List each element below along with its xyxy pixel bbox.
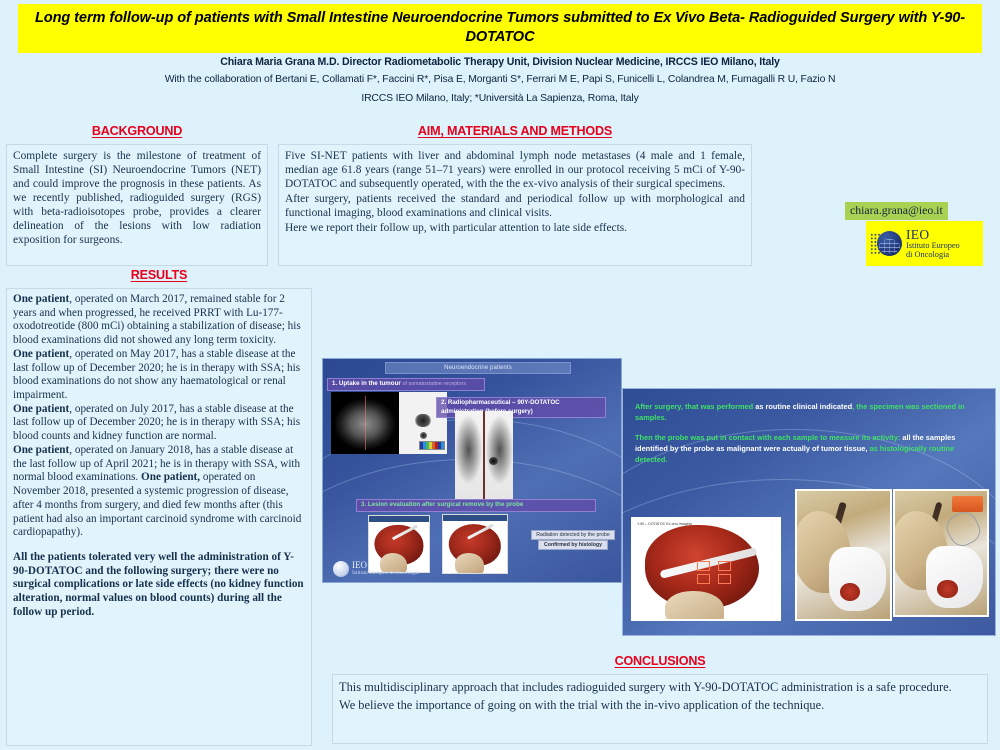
conclusions-textbox: This multidisciplinary approach that inc… <box>332 674 988 744</box>
results-patient-1-lead: One patient <box>13 293 69 305</box>
globe-grid-icon <box>879 239 900 254</box>
results-summary-last-line: follow up period. <box>13 606 305 620</box>
color-scale-bar <box>419 441 445 450</box>
step-1-bold-text: 1. Uptake in the tumour <box>332 380 401 387</box>
author-line-affiliation: IRCCS IEO Milano, Italy; *Università La … <box>0 90 1000 109</box>
background-body: Complete surgery is the milestone of tre… <box>13 149 261 248</box>
right-slide-caption: After surgery, that was performed as rou… <box>635 401 983 473</box>
center-slide-logo-text: IEO Istituto Europeo di Oncologia <box>352 561 419 576</box>
gloved-hand <box>455 553 484 574</box>
results-spacer <box>13 540 305 551</box>
center-slide-logo-sub: Istituto Europeo di Oncologia <box>352 571 419 577</box>
r1-white-a: as routine clinical indicated <box>755 402 852 411</box>
step-3-text: Lesion evaluation after surgical remove … <box>368 501 523 508</box>
author-line-collaborators: With the collaboration of Bertani E, Col… <box>0 70 1000 89</box>
roi-box <box>697 574 710 584</box>
step-3-number: 3. <box>361 501 368 508</box>
step-1-dim-text: of somatostatine receptors <box>403 381 467 387</box>
center-slide-step-3-label: 3. Lesion evaluation after surgical remo… <box>356 499 596 512</box>
probe-measurement-photo-2 <box>893 489 989 617</box>
results-patient-5-lead: One patient, <box>141 471 200 483</box>
aim-heading: AIM, MATERIALS AND METHODS <box>278 124 752 138</box>
ieo-logo-name: IEO <box>906 228 960 242</box>
ieo-logo-sub-2: di Oncologia <box>906 251 960 260</box>
scissors-icon <box>943 508 986 551</box>
results-patient-1: One patient, operated on March 2017, rem… <box>13 293 305 348</box>
r2-green-a: Then the probe was put in contact with e… <box>635 433 902 442</box>
results-patient-3: One patient, operated on July 2017, has … <box>13 403 305 444</box>
center-slide-note-histology: Confirmed by histology <box>538 540 608 550</box>
conclusions-paragraph-2: We believe the importance of going on wi… <box>339 697 981 714</box>
results-patient-3-lead: One patient <box>13 403 69 415</box>
center-slide-step-1-label: 1. Uptake in the tumour of somatostatine… <box>327 378 485 391</box>
surgical-drape <box>829 547 887 611</box>
uptake-blob-secondary <box>420 432 427 439</box>
author-block: Chiara Maria Grana M.D. Director Radiome… <box>0 54 1000 108</box>
background-heading: BACKGROUND <box>6 124 268 138</box>
roi-box <box>718 574 731 584</box>
center-slide-figure: Neuroendocrine patients 1. Uptake in the… <box>322 358 622 583</box>
results-summary: All the patients tolerated very well the… <box>13 551 305 606</box>
photo-header-bar <box>443 515 507 521</box>
results-patient-2-lead: One patient <box>13 348 69 360</box>
center-slide-note-radiation: Radiation detected by the probe <box>531 530 615 540</box>
results-patient-4-lead: One patient <box>13 444 69 456</box>
contact-email[interactable]: chiara.grana@ieo.it <box>845 202 948 220</box>
globe-icon <box>333 561 349 577</box>
aim-textbox: Five SI-NET patients with liver and abdo… <box>278 144 752 266</box>
surgical-drape <box>926 546 983 608</box>
right-slide-paragraph-1: After surgery, that was performed as rou… <box>635 401 983 424</box>
globe-icon <box>870 228 902 260</box>
aim-paragraph-1: Five SI-NET patients with liver and abdo… <box>285 149 745 191</box>
background-textbox: Complete surgery is the milestone of tre… <box>6 144 268 266</box>
poster-title-banner: Long term follow-up of patients with Sma… <box>18 4 982 53</box>
right-slide-paragraph-2: Then the probe was put in contact with e… <box>635 432 983 466</box>
specimen-roi-photo: Y-90 – DOTATOC Ex-vivo imaging <box>631 517 781 621</box>
ieo-logo-text: IEO Istituto Europeo di Oncologia <box>906 228 960 260</box>
operating-scene <box>895 491 987 615</box>
ieo-logo: IEO Istituto Europeo di Oncologia <box>866 221 983 266</box>
surgical-specimen-photo-2 <box>442 514 508 574</box>
r1-green-a: After surgery, that was performed <box>635 402 755 411</box>
gloved-hand <box>665 591 723 621</box>
ct-image <box>331 392 399 454</box>
right-slide-figure: After surgery, that was performed as rou… <box>622 388 996 636</box>
results-textbox: One patient, operated on March 2017, rem… <box>6 288 312 746</box>
scintigraphy-hotspot <box>489 457 498 465</box>
sample-tissue <box>937 580 957 597</box>
center-slide-ieo-logo: IEO Istituto Europeo di Oncologia <box>333 561 419 577</box>
center-slide-title-bar: Neuroendocrine patients <box>385 362 571 374</box>
photo-header-bar <box>369 516 429 522</box>
operating-scene <box>797 491 890 619</box>
scintigraphy-image <box>455 411 513 499</box>
results-patient-2: One patient, operated on May 2017, has a… <box>13 348 305 403</box>
conclusions-heading: CONCLUSIONS <box>330 654 990 668</box>
center-slide-title: Neuroendocrine patients <box>444 365 512 371</box>
author-line-primary: Chiara Maria Grana M.D. Director Radiome… <box>0 54 1000 70</box>
probe-measurement-photo-1 <box>795 489 892 621</box>
aim-paragraph-3: Here we report their follow up, with par… <box>285 221 745 235</box>
results-heading: RESULTS <box>6 268 312 282</box>
orange-device <box>952 496 983 512</box>
ct-spect-thumbnail <box>331 392 447 454</box>
results-patient-4: One patient, operated on January 2018, h… <box>13 444 305 540</box>
uptake-blob <box>415 414 431 427</box>
roi-box <box>697 561 710 571</box>
roi-box <box>718 561 731 571</box>
aim-paragraph-2: After surgery, patients received the sta… <box>285 192 745 220</box>
scintigraphy-divider <box>483 411 485 499</box>
globe-ball-icon <box>877 231 902 256</box>
page-title: Long term follow-up of patients with Sma… <box>28 9 972 46</box>
conclusions-paragraph-1: This multidisciplinary approach that inc… <box>339 679 981 696</box>
